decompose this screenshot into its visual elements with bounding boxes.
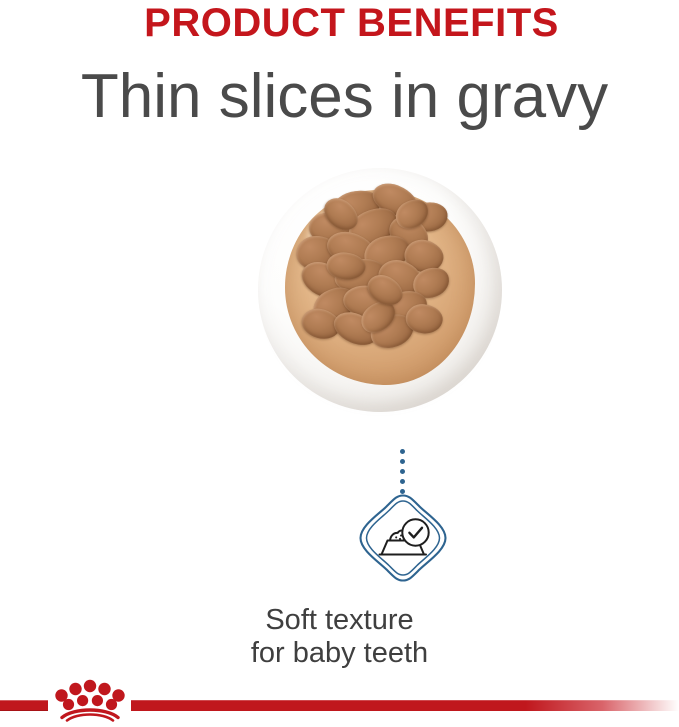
page-title: Thin slices in gravy bbox=[0, 62, 679, 132]
footer-rule-left bbox=[0, 700, 48, 711]
meat-slices-group bbox=[258, 168, 502, 412]
connector-dot bbox=[400, 449, 405, 454]
hero-food-bowl-image bbox=[258, 168, 502, 412]
benefit-caption-line-2: for baby teeth bbox=[0, 637, 679, 670]
connector-dot bbox=[400, 459, 405, 464]
royal-canin-crown-logo bbox=[52, 676, 128, 722]
page-eyebrow: PRODUCT BENEFITS bbox=[0, 2, 679, 44]
connector-dot bbox=[400, 479, 405, 484]
footer-rule-right bbox=[131, 700, 679, 711]
soft-texture-bowl-check-icon bbox=[357, 492, 449, 584]
benefit-caption-line-1: Soft texture bbox=[0, 604, 679, 637]
bowl-dish bbox=[258, 168, 502, 412]
connector-dot bbox=[400, 469, 405, 474]
dotted-connector bbox=[400, 449, 406, 495]
product-benefits-page: PRODUCT BENEFITS Thin slices in gravy bbox=[0, 0, 679, 727]
benefit-caption: Soft texture for baby teeth bbox=[0, 604, 679, 670]
